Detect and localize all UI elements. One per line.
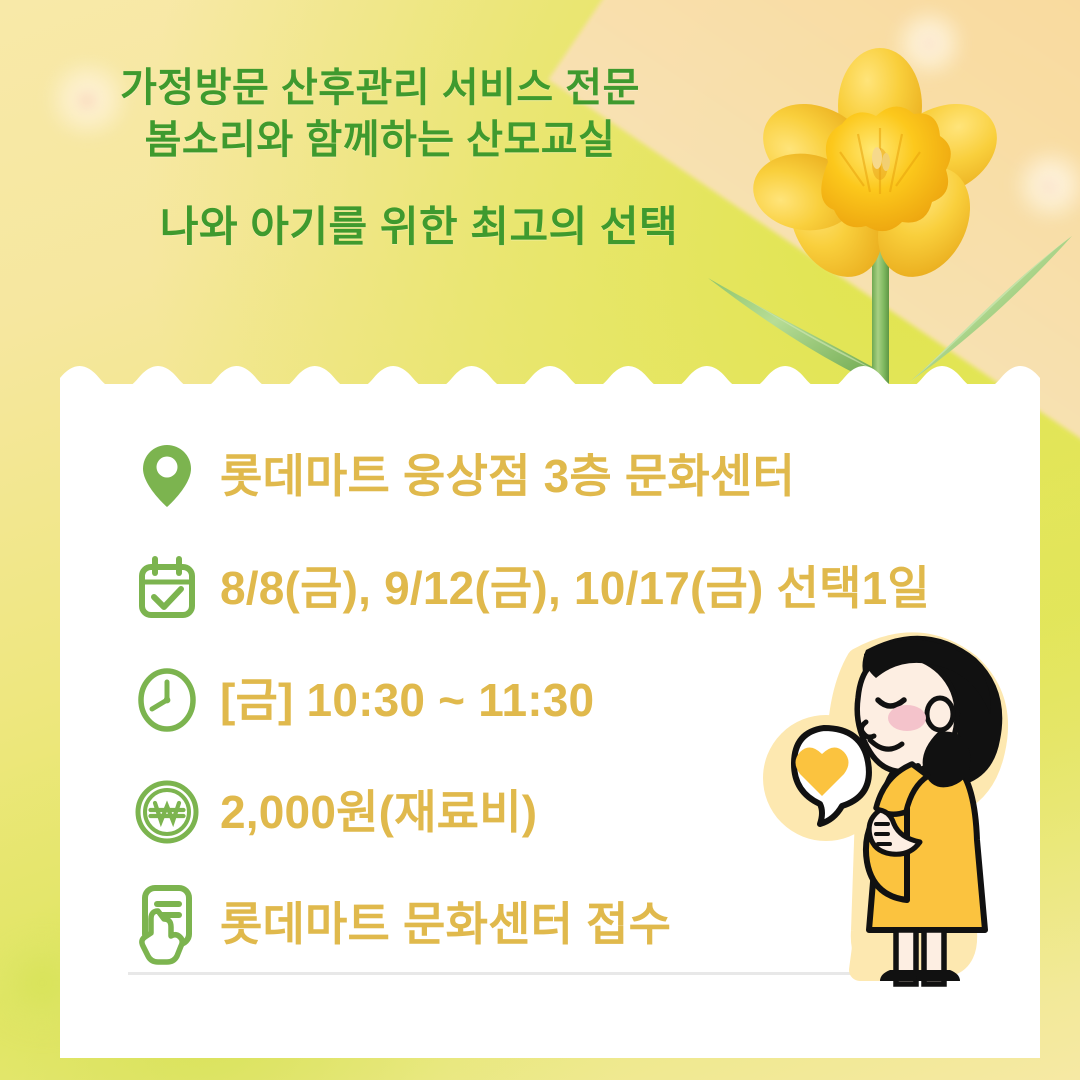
headline-block: 가정방문 산후관리 서비스 전문 봄소리와 함께하는 산모교실 나와 아기를 위…: [0, 62, 760, 255]
hand-tap-document-icon: [128, 885, 206, 963]
card-divider: [128, 972, 884, 975]
info-row-location: 롯데마트 웅상점 3층 문화센터: [128, 420, 1040, 532]
poster-canvas: 가정방문 산후관리 서비스 전문 봄소리와 함께하는 산모교실 나와 아기를 위…: [0, 0, 1080, 1080]
location-pin-icon: [128, 443, 206, 509]
headline-line-3: 나와 아기를 위한 최고의 선택: [0, 200, 760, 255]
pregnant-woman-illustration: [772, 614, 1068, 980]
headline-line-1: 가정방문 산후관리 서비스 전문: [0, 62, 760, 114]
info-row-time-text: [금] 10:30 ~ 11:30: [206, 677, 594, 723]
won-currency-icon: [128, 780, 206, 844]
info-row-location-text: 롯데마트 웅상점 3층 문화센터: [206, 453, 795, 499]
calendar-check-icon: [128, 557, 206, 619]
info-row-dates-text: 8/8(금), 9/12(금), 10/17(금) 선택1일: [206, 565, 930, 611]
headline-line-2: 봄소리와 함께하는 산모교실: [0, 114, 760, 166]
info-row-registration-text: 롯데마트 문화센터 접수: [206, 901, 671, 947]
clock-icon: [128, 668, 206, 732]
info-row-price-text: 2,000원(재료비): [206, 789, 537, 835]
